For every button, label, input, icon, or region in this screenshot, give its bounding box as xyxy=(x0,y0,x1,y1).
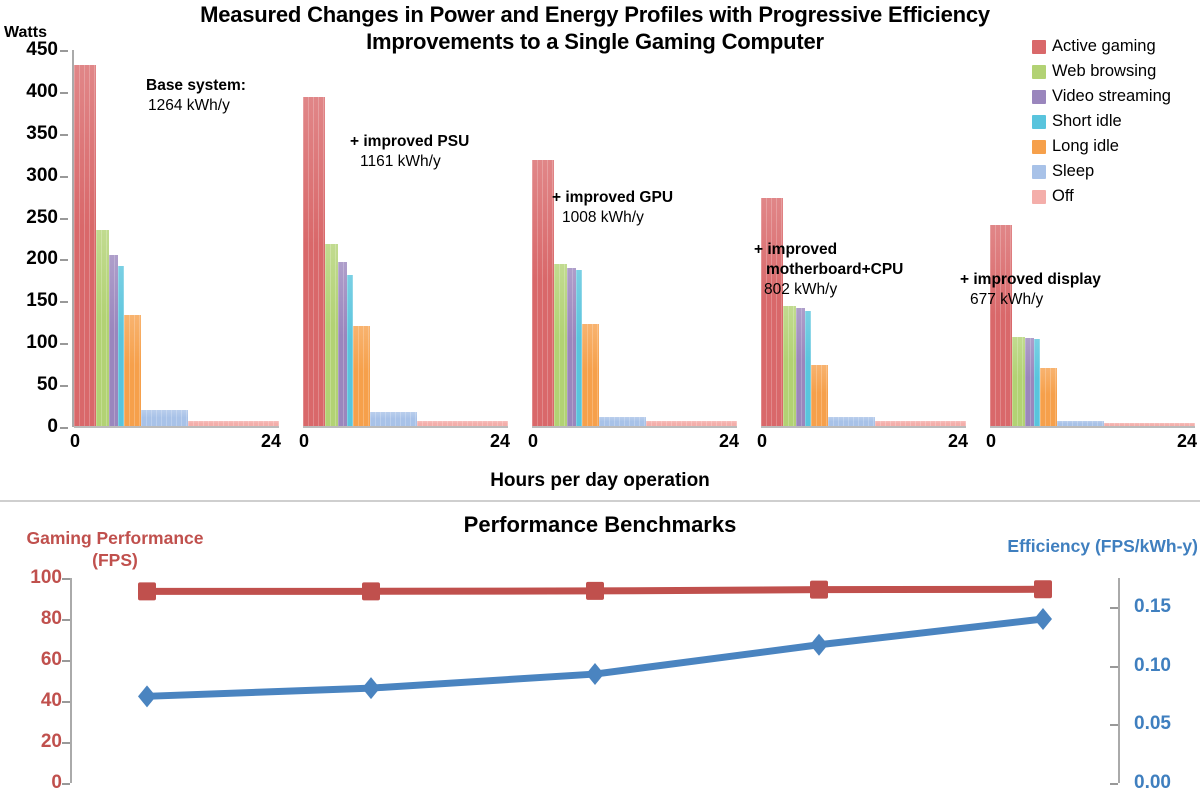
bar-group: 024 xyxy=(303,50,508,427)
group-baseline xyxy=(990,426,1195,428)
top-x-tick-right: 24 xyxy=(948,431,968,452)
bar-short-idle xyxy=(118,266,125,427)
panel-annotation-energy: 802 kWh/y xyxy=(754,280,903,300)
series-marker-diamond xyxy=(138,685,156,707)
bar-long-idle xyxy=(124,315,141,427)
group-baseline xyxy=(74,426,279,428)
legend-item-active-gaming[interactable]: Active gaming xyxy=(1032,34,1200,59)
group-baseline xyxy=(761,426,966,428)
panel-annotation-energy: 1008 kWh/y xyxy=(552,208,673,228)
top-x-tick-left: 0 xyxy=(299,431,309,452)
panel-annotation-title: + improvedmotherboard+CPU xyxy=(754,240,903,280)
bottom-left-tick-label: 40 xyxy=(41,690,62,712)
legend-swatch-icon xyxy=(1032,40,1046,54)
panel-annotation-title: + improved display xyxy=(960,270,1101,290)
panel-annotation: Base system:1264 kWh/y xyxy=(146,76,246,116)
bottom-series-svg xyxy=(0,500,1200,791)
bar-web-browsing xyxy=(1012,337,1025,427)
bar-group-bars xyxy=(532,50,737,427)
bottom-right-tick-mark xyxy=(1110,724,1118,726)
legend-swatch-icon xyxy=(1032,90,1046,104)
bar-group: 024 xyxy=(761,50,966,427)
legend-item-short-idle[interactable]: Short idle xyxy=(1032,109,1200,134)
top-y-tick-mark xyxy=(60,134,68,136)
top-y-tick-label: 250 xyxy=(26,207,58,229)
series-marker-square xyxy=(586,582,604,600)
bar-short-idle xyxy=(576,270,583,427)
legend-item-label: Sleep xyxy=(1052,162,1094,181)
group-baseline xyxy=(532,426,737,428)
top-y-tick-label: 450 xyxy=(26,39,58,61)
top-y-tick-mark xyxy=(60,385,68,387)
power-profile-chart: Measured Changes in Power and Energy Pro… xyxy=(0,0,1200,500)
group-baseline xyxy=(303,426,508,428)
legend-swatch-icon xyxy=(1032,165,1046,179)
top-y-tick-label: 0 xyxy=(47,416,58,438)
top-y-tick-mark xyxy=(60,343,68,345)
panel-annotation-energy: 1264 kWh/y xyxy=(146,96,246,116)
legend-swatch-icon xyxy=(1032,190,1046,204)
bar-video-streaming xyxy=(796,308,805,427)
top-y-tick-mark xyxy=(60,218,68,220)
bar-active-gaming xyxy=(761,198,783,427)
bar-web-browsing xyxy=(96,230,109,427)
legend-item-video-streaming[interactable]: Video streaming xyxy=(1032,84,1200,109)
top-y-tick-mark xyxy=(60,176,68,178)
top-y-tick-label: 50 xyxy=(37,374,58,396)
bottom-left-tick-mark xyxy=(62,701,70,703)
bar-sleep xyxy=(141,410,188,427)
bottom-left-tick-mark xyxy=(62,660,70,662)
bar-video-streaming xyxy=(1025,338,1034,427)
bar-web-browsing xyxy=(783,306,796,427)
top-y-tick-mark xyxy=(60,301,68,303)
top-y-tick-label: 350 xyxy=(26,123,58,145)
top-y-tick-mark xyxy=(60,427,68,429)
panel-annotation: + improved PSU1161 kWh/y xyxy=(350,132,469,172)
chart-page: Measured Changes in Power and Energy Pro… xyxy=(0,0,1200,791)
panel-annotation-title: + improved GPU xyxy=(552,188,673,208)
legend-swatch-icon xyxy=(1032,115,1046,129)
bottom-left-tick-label: 100 xyxy=(30,567,62,589)
series-marker-diamond xyxy=(586,663,604,685)
panel-annotation: + improved GPU1008 kWh/y xyxy=(552,188,673,228)
top-x-tick-left: 0 xyxy=(986,431,996,452)
bar-short-idle xyxy=(1034,339,1041,427)
bottom-right-tick-mark xyxy=(1110,666,1118,668)
bottom-left-tick-mark xyxy=(62,578,70,580)
bar-short-idle xyxy=(347,275,354,427)
bar-group-bars xyxy=(761,50,966,427)
panel-annotation: + improved display677 kWh/y xyxy=(960,270,1101,310)
bar-group-bars xyxy=(303,50,508,427)
top-y-tick-label: 300 xyxy=(26,165,58,187)
bottom-left-tick-mark xyxy=(62,742,70,744)
series-marker-square xyxy=(1034,580,1052,598)
bottom-right-tick-label: 0.15 xyxy=(1134,596,1171,618)
legend-item-off[interactable]: Off xyxy=(1032,184,1200,209)
legend-item-label: Off xyxy=(1052,187,1074,206)
bar-video-streaming xyxy=(567,268,576,427)
series-marker-diamond xyxy=(810,634,828,656)
series-marker-diamond xyxy=(1034,608,1052,630)
legend-item-web-browsing[interactable]: Web browsing xyxy=(1032,59,1200,84)
top-x-tick-right: 24 xyxy=(261,431,281,452)
series-marker-diamond xyxy=(362,677,380,699)
top-y-tick-mark xyxy=(60,92,68,94)
bar-active-gaming xyxy=(303,97,325,427)
bar-sleep xyxy=(370,412,417,427)
legend-item-label: Long idle xyxy=(1052,137,1119,156)
series-marker-square xyxy=(138,582,156,600)
legend-item-label: Short idle xyxy=(1052,112,1122,131)
top-y-tick-mark xyxy=(60,259,68,261)
top-y-tick-label: 100 xyxy=(26,332,58,354)
panel-annotation-energy: 677 kWh/y xyxy=(960,290,1101,310)
top-x-tick-right: 24 xyxy=(1177,431,1197,452)
top-x-tick-right: 24 xyxy=(719,431,739,452)
bottom-right-tick-label: 0.05 xyxy=(1134,713,1171,735)
bar-web-browsing xyxy=(554,264,567,427)
bar-short-idle xyxy=(805,311,812,427)
series-marker-square xyxy=(362,582,380,600)
bar-long-idle xyxy=(353,326,370,427)
legend-swatch-icon xyxy=(1032,140,1046,154)
bar-group: 024 xyxy=(532,50,737,427)
series-marker-square xyxy=(810,581,828,599)
top-y-tick-label: 200 xyxy=(26,248,58,270)
bottom-left-tick-label: 20 xyxy=(41,731,62,753)
bottom-left-tick-label: 60 xyxy=(41,649,62,671)
legend-item-label: Web browsing xyxy=(1052,62,1156,81)
bottom-left-tick-mark xyxy=(62,619,70,621)
panel-annotation-energy: 1161 kWh/y xyxy=(350,152,469,172)
performance-benchmarks-chart: Performance Benchmarks Gaming Performanc… xyxy=(0,500,1200,791)
top-y-axis: 050100150200250300350400450 xyxy=(0,46,80,426)
top-y-tick-label: 400 xyxy=(26,81,58,103)
bar-active-gaming xyxy=(532,160,554,427)
bar-active-gaming xyxy=(990,225,1012,427)
top-x-axis-label: Hours per day operation xyxy=(0,470,1200,492)
top-x-tick-right: 24 xyxy=(490,431,510,452)
panel-annotation: + improvedmotherboard+CPU802 kWh/y xyxy=(754,240,903,299)
top-x-tick-left: 0 xyxy=(757,431,767,452)
top-chart-legend: Active gamingWeb browsingVideo streaming… xyxy=(1032,34,1200,209)
bottom-right-tick-mark xyxy=(1110,607,1118,609)
bar-video-streaming xyxy=(109,255,118,427)
bar-long-idle xyxy=(582,324,599,427)
bar-active-gaming xyxy=(74,65,96,427)
bottom-left-tick-mark xyxy=(62,783,70,785)
top-chart-title: Measured Changes in Power and Energy Pro… xyxy=(150,2,1040,56)
bottom-right-tick-label: 0.10 xyxy=(1134,655,1171,677)
legend-item-long-idle[interactable]: Long idle xyxy=(1032,134,1200,159)
legend-swatch-icon xyxy=(1032,65,1046,79)
bar-video-streaming xyxy=(338,262,347,427)
top-y-tick-mark xyxy=(60,50,68,52)
bottom-left-tick-label: 80 xyxy=(41,608,62,630)
top-x-tick-left: 0 xyxy=(528,431,538,452)
legend-item-sleep[interactable]: Sleep xyxy=(1032,159,1200,184)
panel-annotation-title: + improved PSU xyxy=(350,132,469,152)
top-y-tick-label: 150 xyxy=(26,290,58,312)
bar-long-idle xyxy=(1040,368,1057,427)
panel-annotation-title: Base system: xyxy=(146,76,246,96)
legend-item-label: Active gaming xyxy=(1052,37,1156,56)
bar-long-idle xyxy=(811,365,828,427)
top-x-tick-left: 0 xyxy=(70,431,80,452)
bottom-right-tick-mark xyxy=(1110,783,1118,785)
legend-item-label: Video streaming xyxy=(1052,87,1171,106)
bar-web-browsing xyxy=(325,244,338,427)
